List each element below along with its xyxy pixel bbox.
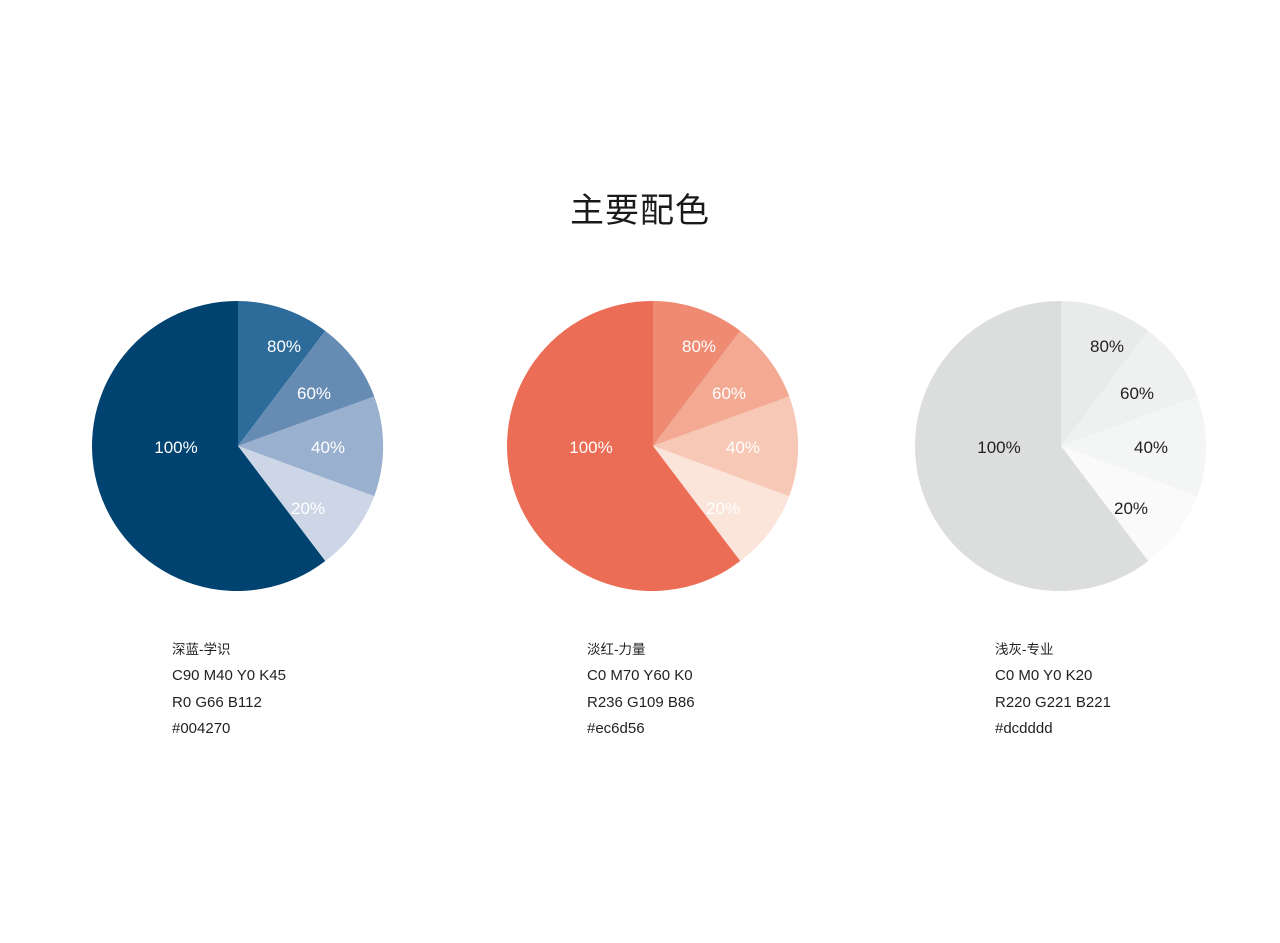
- pie-slice-label-60: 60%: [1120, 384, 1154, 403]
- pie-slice-label-20: 20%: [706, 499, 740, 518]
- pie-slice-label-100: 100%: [569, 438, 612, 457]
- palette-rgb: R236 G109 B86: [587, 690, 867, 717]
- palette-rgb: R0 G66 B112: [172, 690, 452, 717]
- palette-cmyk: C90 M40 Y0 K45: [172, 663, 452, 690]
- palette-group-light-gray: 80% 60% 40% 20% 100% 浅灰-专业 C0 M0 Y0 K20 …: [850, 300, 1270, 770]
- palette-name: 浅灰-专业: [995, 637, 1275, 663]
- palette-meta-light-gray: 浅灰-专业 C0 M0 Y0 K20 R220 G221 B221 #dcddd…: [995, 637, 1275, 743]
- pie-slice-label-80: 80%: [682, 337, 716, 356]
- palette-rgb: R220 G221 B221: [995, 690, 1275, 717]
- palette-name: 深蓝-学识: [172, 637, 452, 663]
- palette-group-dark-blue: 80% 60% 40% 20% 100% 深蓝-学识 C90 M40 Y0 K4…: [27, 300, 447, 770]
- pie-svg-dark-blue: 80% 60% 40% 20% 100%: [92, 300, 384, 592]
- pie-svg-light-red: 80% 60% 40% 20% 100%: [507, 300, 799, 592]
- pie-slice-label-80: 80%: [267, 337, 301, 356]
- pie-svg-light-gray: 80% 60% 40% 20% 100%: [915, 300, 1207, 592]
- palette-cmyk: C0 M0 Y0 K20: [995, 663, 1275, 690]
- palette-name: 淡红-力量: [587, 637, 867, 663]
- palette-hex: #ec6d56: [587, 716, 867, 743]
- palette-hex: #004270: [172, 716, 452, 743]
- palette-cmyk: C0 M70 Y60 K0: [587, 663, 867, 690]
- pie-slice-label-20: 20%: [291, 499, 325, 518]
- pie-slice-label-40: 40%: [1134, 438, 1168, 457]
- pie-slice-label-100: 100%: [154, 438, 197, 457]
- pie-slice-label-80: 80%: [1090, 337, 1124, 356]
- palette-meta-dark-blue: 深蓝-学识 C90 M40 Y0 K45 R0 G66 B112 #004270: [172, 637, 452, 743]
- pie-slice-label-100: 100%: [977, 438, 1020, 457]
- palette-meta-light-red: 淡红-力量 C0 M70 Y60 K0 R236 G109 B86 #ec6d5…: [587, 637, 867, 743]
- pie-chart-light-red[interactable]: 80% 60% 40% 20% 100%: [507, 300, 799, 592]
- palette-row: 80% 60% 40% 20% 100% 深蓝-学识 C90 M40 Y0 K4…: [0, 300, 1280, 770]
- page-title: 主要配色: [0, 183, 1280, 232]
- palette-group-light-red: 80% 60% 40% 20% 100% 淡红-力量 C0 M70 Y60 K0…: [442, 300, 862, 770]
- palette-hex: #dcdddd: [995, 716, 1275, 743]
- pie-slice-label-60: 60%: [712, 384, 746, 403]
- pie-slice-label-40: 40%: [726, 438, 760, 457]
- pie-chart-light-gray[interactable]: 80% 60% 40% 20% 100%: [915, 300, 1207, 592]
- pie-slice-label-20: 20%: [1114, 499, 1148, 518]
- pie-chart-dark-blue[interactable]: 80% 60% 40% 20% 100%: [92, 300, 384, 592]
- pie-slice-label-40: 40%: [311, 438, 345, 457]
- pie-slice-label-60: 60%: [297, 384, 331, 403]
